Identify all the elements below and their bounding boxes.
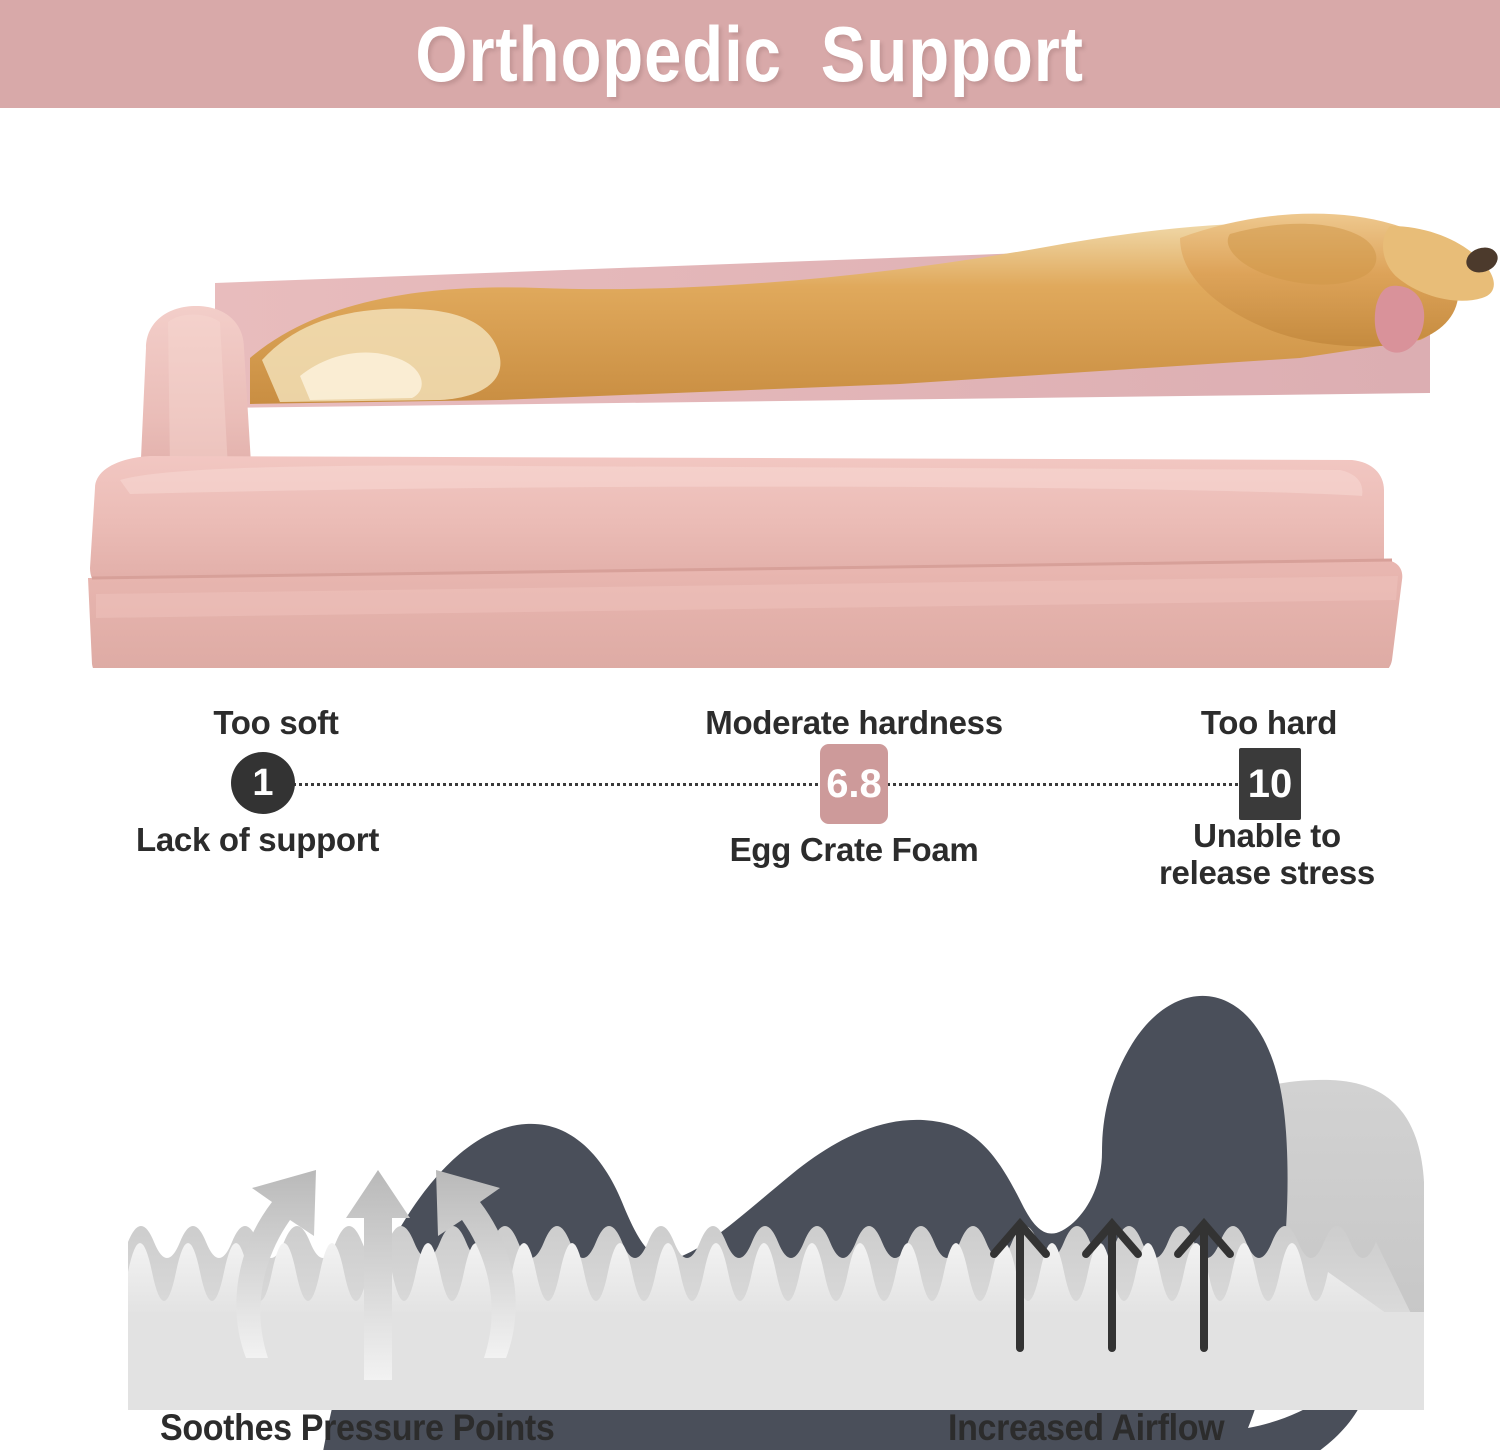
foam-diagram: Soothes Pressure Points Increased Airflo…	[0, 920, 1500, 1450]
bolster-highlight	[168, 315, 228, 478]
product-photo-svg	[0, 108, 1500, 668]
scale-low-top-label: Too soft	[196, 706, 356, 741]
scale-high-marker[interactable]: 10	[1239, 748, 1301, 820]
foam-diagram-svg	[0, 920, 1500, 1450]
scale-high-top-label: Too hard	[1184, 706, 1354, 741]
foam-label-left: Soothes Pressure Points	[160, 1407, 554, 1449]
page-title: Orthopedic Support	[416, 15, 1084, 93]
scale-high-bottom-label: Unable to release stress	[1136, 818, 1398, 892]
scale-high-bottom-line2: release stress	[1136, 855, 1398, 892]
header-banner: Orthopedic Support	[0, 0, 1500, 108]
scale-mid-top-label: Moderate hardness	[686, 706, 1022, 741]
scale-high-bottom-line1: Unable to	[1136, 818, 1398, 855]
product-photo	[0, 108, 1500, 668]
foam-base-block	[128, 1312, 1424, 1410]
scale-mid-bottom-label: Egg Crate Foam	[706, 832, 1002, 869]
scale-dotted-line	[292, 783, 1252, 786]
scale-mid-marker[interactable]: 6.8	[820, 744, 888, 824]
foam-label-right: Increased Airflow	[948, 1407, 1224, 1449]
scale-low-marker[interactable]: 1	[231, 752, 295, 814]
scale-low-bottom-label: Lack of support	[136, 822, 416, 859]
